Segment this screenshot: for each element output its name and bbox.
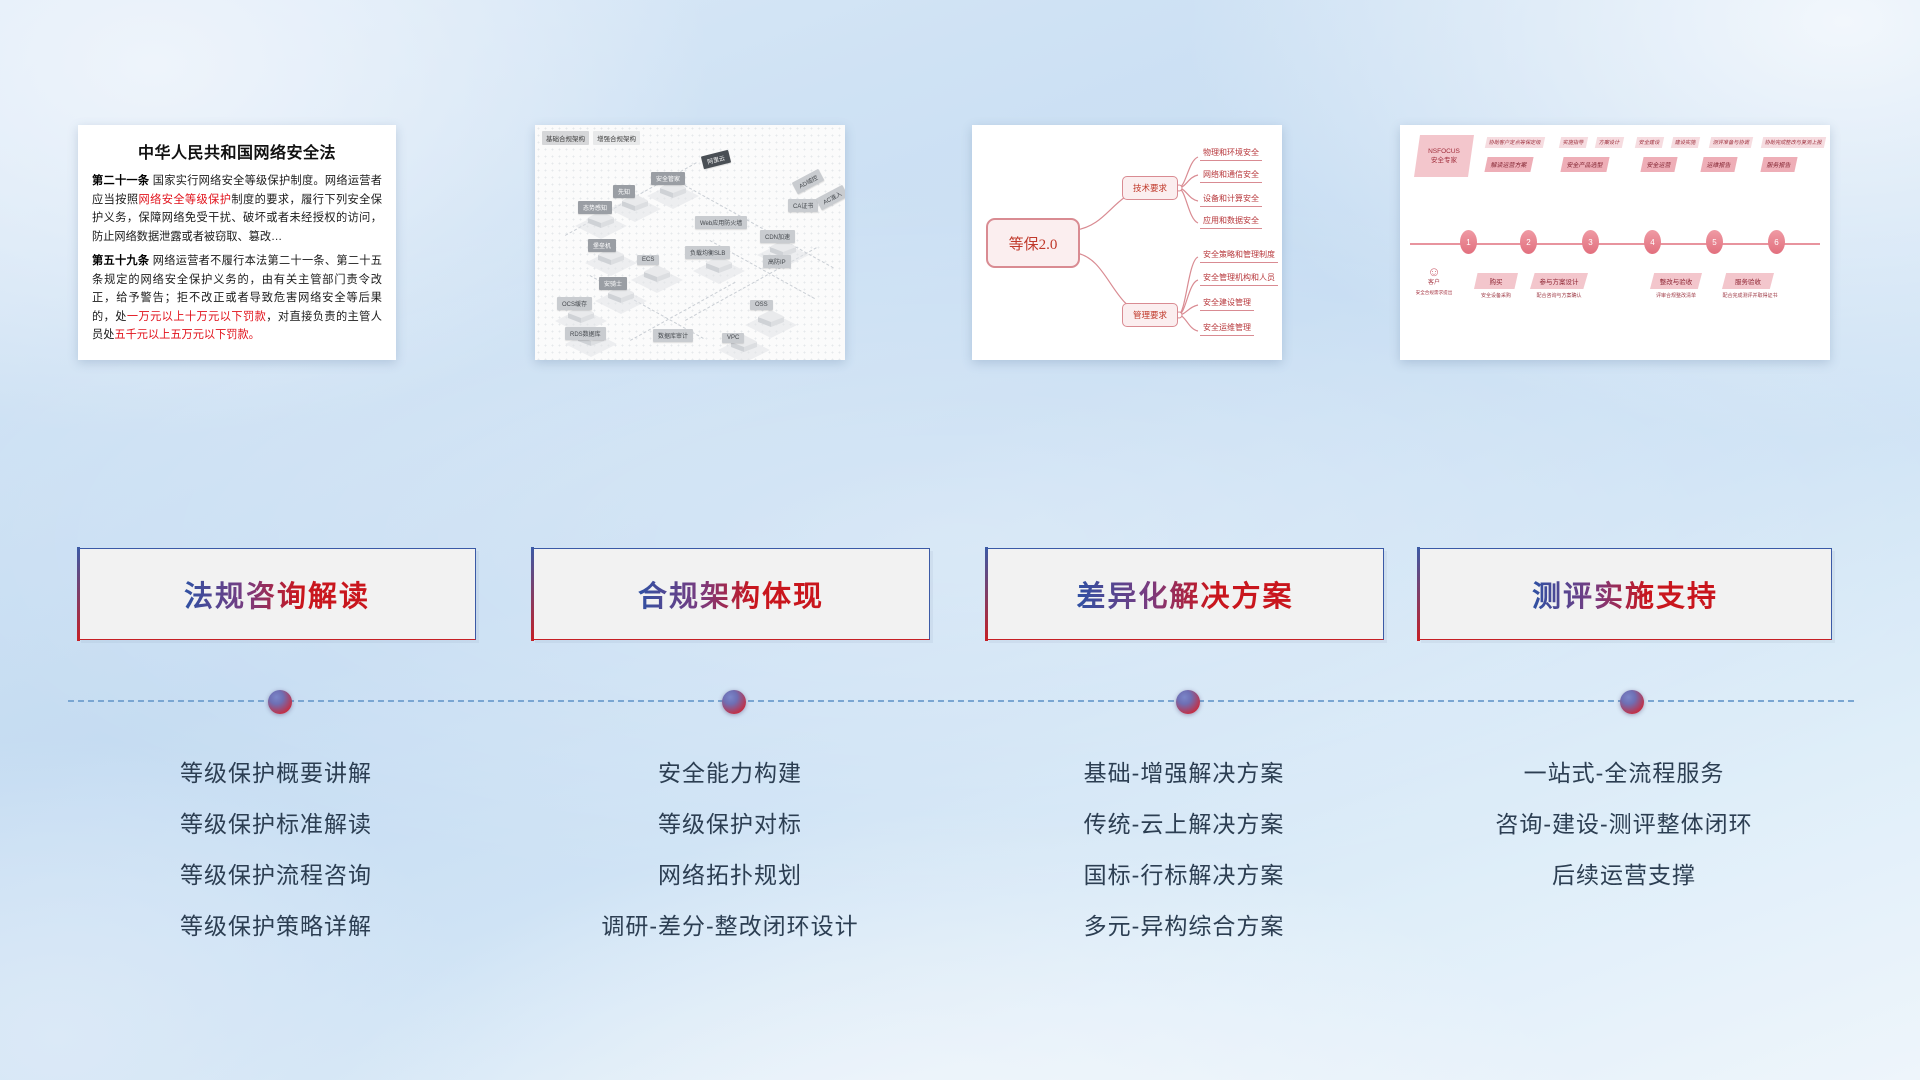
nsfocus-brand-name: NSFOCUS (1428, 147, 1460, 156)
node-label-db-audit: 数据库审计 (653, 329, 693, 342)
plate-assessment-support[interactable]: 测评实施支持 (1418, 548, 1832, 640)
node-label-ecs: ECS (637, 255, 659, 265)
nsfocus-top-tag: 协助客户定点等保定级 (1485, 137, 1545, 148)
nsfocus-stage-tag: 解读运营方案 (1484, 157, 1533, 172)
node-label-anqishi: 安骑士 (599, 277, 627, 290)
column-item: 等级保护策略详解 (78, 901, 474, 952)
mindmap: 等保2.0 技术要求 管理要求 物理和环境安全 网络和通信安全 设备和计算安全 … (972, 125, 1282, 360)
column-regulation-consulting: 等级保护概要讲解 等级保护标准解读 等级保护流程咨询 等级保护策略详解 (78, 748, 474, 952)
nsfocus-bottom-chip: 整改与验收 (1650, 273, 1702, 289)
timeline-marker-3[interactable] (1176, 690, 1200, 714)
nsfocus-step-dot: 1 (1460, 230, 1477, 254)
timeline-marker-1[interactable] (268, 690, 292, 714)
card-dengbao-mindmap: 等保2.0 技术要求 管理要求 物理和环境安全 网络和通信安全 设备和计算安全 … (972, 125, 1282, 360)
nsfocus-bottom-chip: 参与方案设计 (1530, 273, 1588, 289)
nsfocus-top-tag: 测评准备与协调 (1709, 137, 1754, 148)
plate-label: 测评实施支持 (1532, 573, 1718, 615)
plate-compliance-architecture[interactable]: 合规架构体现 (532, 548, 930, 640)
column-item: 咨询-建设-测评整体闭环 (1418, 799, 1830, 850)
node-label-oss: OSS (750, 300, 773, 310)
nsfocus-customer-block: ☺ 客户 安全合规需求提出 (1412, 265, 1456, 297)
nsfocus-bottom-caption: 配合咨询与方案确认 (1526, 292, 1592, 299)
card-compliance-architecture: 基础合规架构 增强合规架构 阿里云 安全管家 先知 态势感知 堡垒机 (535, 125, 845, 360)
timeline-axis (68, 700, 1854, 704)
mindmap-leaf: 安全建设管理 (1200, 297, 1254, 311)
nsfocus-brand-badge: NSFOCUS 安全专家 (1414, 135, 1474, 177)
law-paragraph-59: 第五十九条 网络运营者不履行本法第二十一条、第二十五条规定的网络安全保护义务的，… (92, 252, 382, 345)
illustration-card-row: 中华人民共和国网络安全法 第二十一条 国家实行网络安全等级保护制度。网络运营者应… (0, 125, 1920, 360)
nsfocus-top-tag: 建设实施 (1671, 137, 1700, 148)
nsfocus-bottom-chip: 购买 (1474, 273, 1518, 289)
column-item: 调研-差分-整改闭环设计 (532, 901, 928, 952)
tab-basic-architecture[interactable]: 基础合规架构 (542, 131, 589, 145)
node-label-waf: Web应用防火墙 (695, 216, 747, 229)
law-paragraph-21: 第二十一条 国家实行网络安全等级保护制度。网络运营者应当按照网络安全等级保护制度… (92, 172, 382, 246)
column-compliance-architecture: 安全能力构建 等级保护对标 网络拓扑规划 调研-差分-整改闭环设计 (532, 748, 928, 952)
column-item: 多元-异构综合方案 (986, 901, 1382, 952)
column-item: 安全能力构建 (532, 748, 928, 799)
node-label-ca-cert: CA证书 (788, 199, 818, 212)
column-item: 后续运营支撑 (1418, 850, 1830, 901)
column-item: 一站式-全流程服务 (1418, 748, 1830, 799)
nsfocus-bottom-caption: 配合完成测评并取得证书 (1712, 292, 1788, 299)
nsfocus-bottom-caption: 评审合规整改清单 (1640, 292, 1712, 299)
node-label-rds-database: RDS数据库 (565, 327, 606, 340)
mindmap-branch-management: 管理要求 (1122, 303, 1178, 327)
column-item: 传统-云上解决方案 (986, 799, 1382, 850)
law-article-59-highlight-1: 一万元以上十万元以下罚款 (127, 311, 266, 323)
timeline-marker-4[interactable] (1620, 690, 1644, 714)
card-nsfocus-service-flow: NSFOCUS 安全专家 协助客户定点等保定级 实施指导 方案设计 安全建设 建… (1400, 125, 1830, 360)
nsfocus-top-tag: 协助完成整改与复测上报 (1761, 137, 1826, 148)
customer-label: 客户 (1412, 279, 1456, 288)
node-label-cdn: CDN加速 (760, 230, 795, 243)
timeline-marker-2[interactable] (722, 690, 746, 714)
mindmap-root-node: 等保2.0 (986, 218, 1080, 268)
node-label-bastion-host: 堡垒机 (588, 239, 616, 252)
mindmap-branch-technical: 技术要求 (1122, 176, 1178, 200)
law-title: 中华人民共和国网络安全法 (92, 139, 382, 163)
law-article-21-label: 第二十一条 (92, 175, 149, 187)
node-label-situation-awareness: 态势感知 (578, 201, 612, 214)
nsfocus-step-dot: 3 (1582, 230, 1599, 254)
mindmap-leaf: 安全策略和管理制度 (1200, 249, 1278, 263)
plate-differentiated-solution[interactable]: 差异化解决方案 (986, 548, 1384, 640)
mindmap-leaf: 设备和计算安全 (1200, 193, 1262, 207)
column-differentiated-solution: 基础-增强解决方案 传统-云上解决方案 国标-行标解决方案 多元-异构综合方案 (986, 748, 1382, 952)
law-article-59-label: 第五十九条 (92, 255, 149, 267)
node-label-slb: 负载均衡SLB (685, 246, 730, 259)
nsfocus-step-dot: 5 (1706, 230, 1723, 254)
nsfocus-stage-tag: 服务报告 (1760, 157, 1797, 172)
nsfocus-top-tag: 安全建设 (1635, 137, 1664, 148)
mindmap-leaf: 安全管理机构和人员 (1200, 272, 1278, 286)
section-label-row: 法规咨询解读 合规架构体现 差异化解决方案 测评实施支持 (0, 548, 1920, 640)
nsfocus-bottom-caption: 安全设备采购 (1470, 292, 1522, 299)
nsfocus-bottom-chip: 服务验收 (1722, 273, 1774, 289)
node-label-anti-ddos-ip: 高防IP (763, 255, 791, 268)
column-item: 基础-增强解决方案 (986, 748, 1382, 799)
nsfocus-step-dot: 2 (1520, 230, 1537, 254)
column-item: 网络拓扑规划 (532, 850, 928, 901)
nsfocus-brand-sub: 安全专家 (1431, 156, 1457, 165)
nsfocus-poster: NSFOCUS 安全专家 协助客户定点等保定级 实施指导 方案设计 安全建设 建… (1400, 125, 1830, 360)
nsfocus-step-dot: 6 (1768, 230, 1785, 254)
nsfocus-header-row: NSFOCUS 安全专家 协助客户定点等保定级 实施指导 方案设计 安全建设 建… (1410, 133, 1820, 179)
column-item: 国标-行标解决方案 (986, 850, 1382, 901)
tab-enhanced-architecture[interactable]: 增强合规架构 (593, 131, 640, 145)
nsfocus-top-tag: 方案设计 (1595, 137, 1624, 148)
nsfocus-stage-tag: 运维报告 (1700, 157, 1737, 172)
mindmap-leaf: 应用和数据安全 (1200, 215, 1262, 229)
node-label-xianzhi: 先知 (613, 185, 635, 198)
law-article-21-highlight: 网络安全等级保护 (138, 194, 231, 206)
nsfocus-top-tag: 实施指导 (1559, 137, 1588, 148)
mindmap-leaf: 安全运维管理 (1200, 322, 1254, 336)
nsfocus-stage-tag: 安全产品选型 (1560, 157, 1609, 172)
node-label-ocs-cache: OCS缓存 (557, 297, 592, 310)
mindmap-leaf: 物理和环境安全 (1200, 147, 1262, 161)
customer-icon: ☺ (1412, 265, 1456, 279)
column-item: 等级保护标准解读 (78, 799, 474, 850)
architecture-diagram: 基础合规架构 增强合规架构 阿里云 安全管家 先知 态势感知 堡垒机 (535, 125, 845, 360)
column-item: 等级保护流程咨询 (78, 850, 474, 901)
law-article-59-highlight-2: 五千元以上五万元以下罚款。 (114, 329, 259, 341)
customer-sub: 安全合规需求提出 (1412, 288, 1456, 297)
plate-label: 法规咨询解读 (184, 573, 370, 615)
plate-label: 合规架构体现 (638, 573, 824, 615)
column-item: 等级保护对标 (532, 799, 928, 850)
mindmap-leaf: 网络和通信安全 (1200, 169, 1262, 183)
architecture-tab-row: 基础合规架构 增强合规架构 (542, 131, 640, 145)
column-item: 等级保护概要讲解 (78, 748, 474, 799)
nsfocus-stage-tag: 安全运营 (1640, 157, 1677, 172)
column-assessment-support: 一站式-全流程服务 咨询-建设-测评整体闭环 后续运营支撑 (1418, 748, 1830, 901)
card-cybersecurity-law: 中华人民共和国网络安全法 第二十一条 国家实行网络安全等级保护制度。网络运营者应… (78, 125, 396, 360)
law-document: 中华人民共和国网络安全法 第二十一条 国家实行网络安全等级保护制度。网络运营者应… (78, 125, 396, 360)
node-label-security-butler: 安全管家 (651, 172, 685, 185)
node-label-vpc: VPC (722, 333, 744, 343)
plate-regulation-consulting[interactable]: 法规咨询解读 (78, 548, 476, 640)
plate-label: 差异化解决方案 (1076, 573, 1293, 615)
nsfocus-step-dot: 4 (1644, 230, 1661, 254)
